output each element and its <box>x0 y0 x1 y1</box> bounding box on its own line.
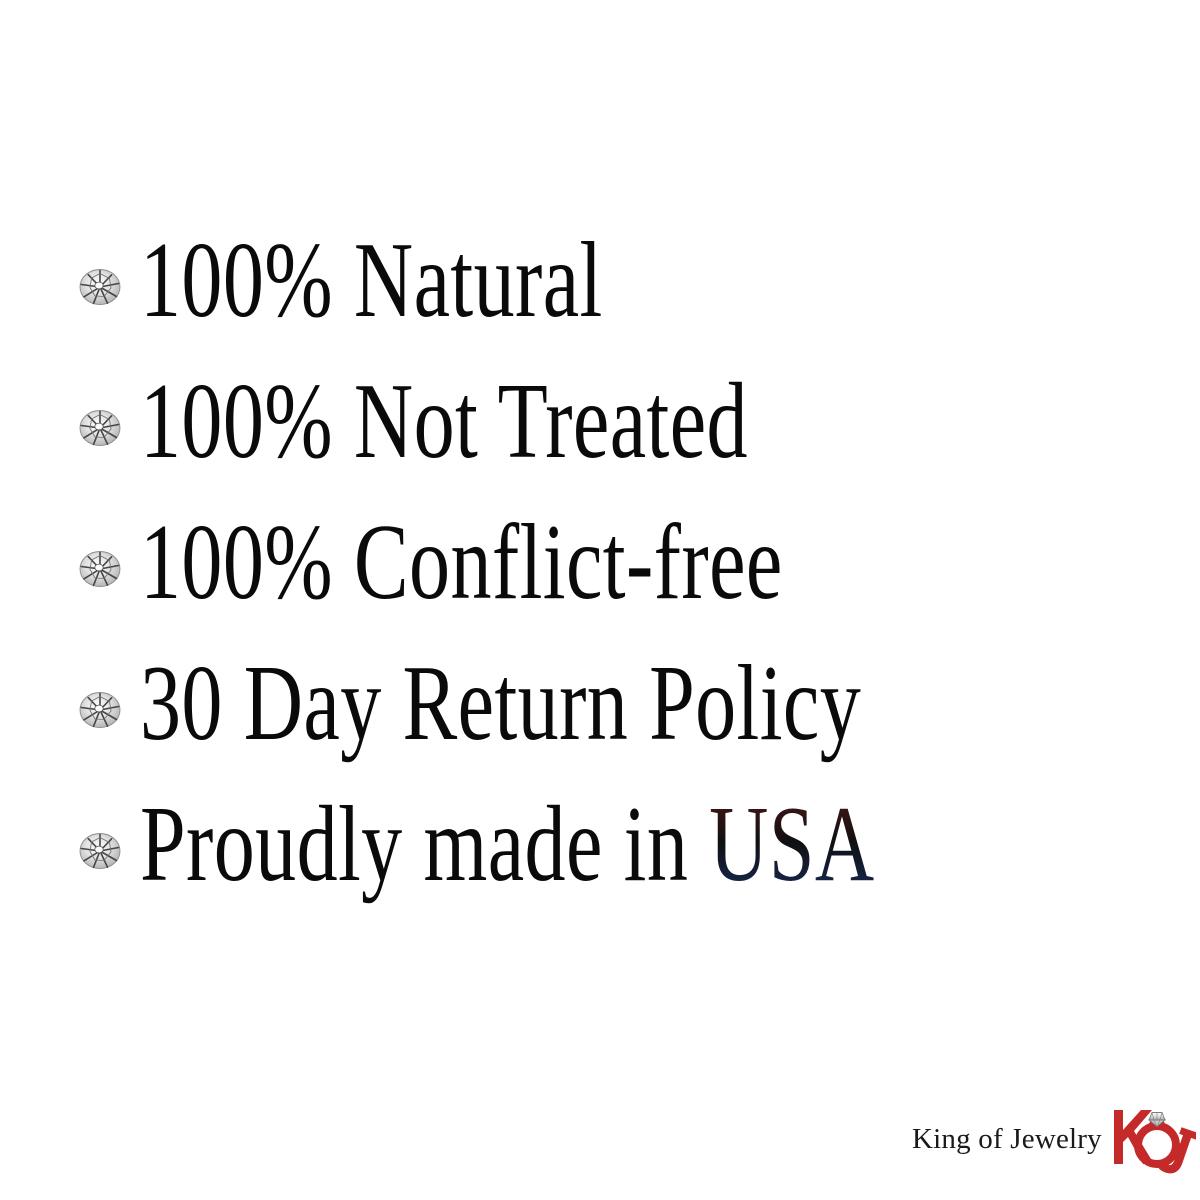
promo-graphic-canvas: 100% Natural <box>0 0 1200 1200</box>
feature-label: 100% Not Treated <box>140 368 748 476</box>
round-brilliant-diamond-icon <box>78 688 122 732</box>
feature-label: Proudly made in USA <box>140 791 875 899</box>
round-brilliant-diamond-icon <box>78 829 122 873</box>
list-item: 100% Natural <box>78 225 749 345</box>
feature-label: 100% Natural <box>140 227 603 335</box>
list-item: Proudly made in USA <box>78 789 1106 909</box>
round-brilliant-diamond-icon <box>78 265 122 309</box>
feature-label: 30 Day Return Policy <box>140 650 861 758</box>
brand-logo[interactable]: King of Jewelry <box>912 1098 1174 1182</box>
diamond-ring-o-icon <box>1110 1102 1196 1182</box>
round-brilliant-diamond-icon <box>78 406 122 450</box>
feature-label-prefix: Proudly made in <box>140 785 709 904</box>
list-item: 30 Day Return Policy <box>78 648 1089 768</box>
brand-wordmark: King of Jewelry <box>912 1123 1102 1156</box>
list-item: 100% Conflict-free <box>78 507 986 627</box>
list-item: 100% Not Treated <box>78 366 940 486</box>
usa-highlight: USA <box>709 785 874 904</box>
feature-label: 100% Conflict-free <box>140 509 783 617</box>
round-brilliant-diamond-icon <box>78 547 122 591</box>
